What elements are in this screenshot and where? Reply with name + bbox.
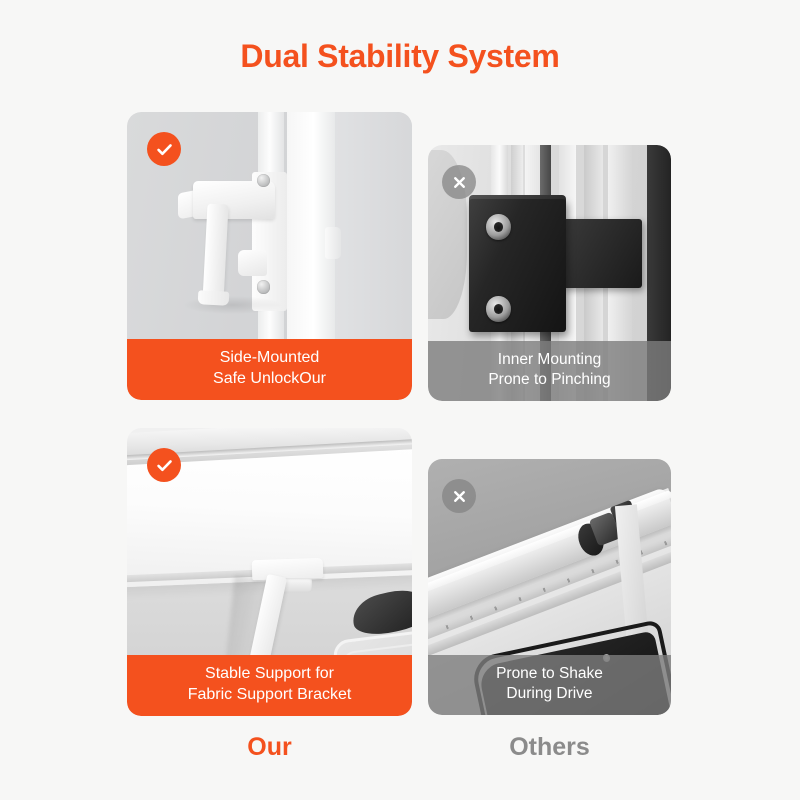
card-caption-banner: Stable Support for Fabric Support Bracke…: [127, 655, 412, 716]
card-caption-line1: Prone to Shake: [496, 665, 603, 682]
card-caption-line2: During Drive: [436, 684, 663, 704]
card-caption-line1: Side-Mounted: [220, 349, 320, 366]
photo-latch-tab: [238, 250, 267, 276]
photo-bracket-arm: [562, 219, 642, 288]
photo-screw-lower: [257, 280, 270, 293]
card-caption-line2: Prone to Pinching: [436, 370, 663, 390]
comparison-infographic: Dual Stability System Side-Mounted Safe …: [0, 0, 800, 800]
column-label-ours: Our: [127, 733, 412, 762]
comparison-card-ours-support-bracket: Stable Support for Fabric Support Bracke…: [127, 428, 412, 716]
card-caption-banner: Side-Mounted Safe UnlockOur: [127, 339, 412, 400]
card-caption-line1: Inner Mounting: [498, 351, 601, 368]
photo-latch-handle: [203, 204, 229, 303]
close-icon: [442, 165, 476, 199]
column-label-others: Others: [428, 733, 671, 762]
card-caption-banner: Inner Mounting Prone to Pinching: [428, 341, 671, 401]
card-caption-line1: Stable Support for: [205, 665, 334, 682]
photo-screw-upper: [257, 174, 270, 187]
check-icon: [147, 132, 181, 166]
comparison-card-others-awning: Prone to Shake During Drive: [428, 459, 671, 715]
photo-bracket-block: [469, 199, 566, 332]
card-caption-banner: Prone to Shake During Drive: [428, 655, 671, 715]
photo-bolt-lower: [486, 296, 510, 322]
page-title: Dual Stability System: [0, 38, 800, 75]
comparison-card-others-bracket: Inner Mounting Prone to Pinching: [428, 145, 671, 401]
card-caption-line2: Safe UnlockOur: [135, 369, 404, 389]
photo-latch-handle-foot: [198, 290, 230, 306]
comparison-card-ours-latch: Side-Mounted Safe UnlockOur: [127, 112, 412, 400]
photo-panel-nub: [325, 227, 341, 259]
photo-bolt-upper: [486, 214, 510, 240]
card-caption-line2: Fabric Support Bracket: [135, 685, 404, 705]
check-icon: [147, 448, 181, 482]
close-icon: [442, 479, 476, 513]
